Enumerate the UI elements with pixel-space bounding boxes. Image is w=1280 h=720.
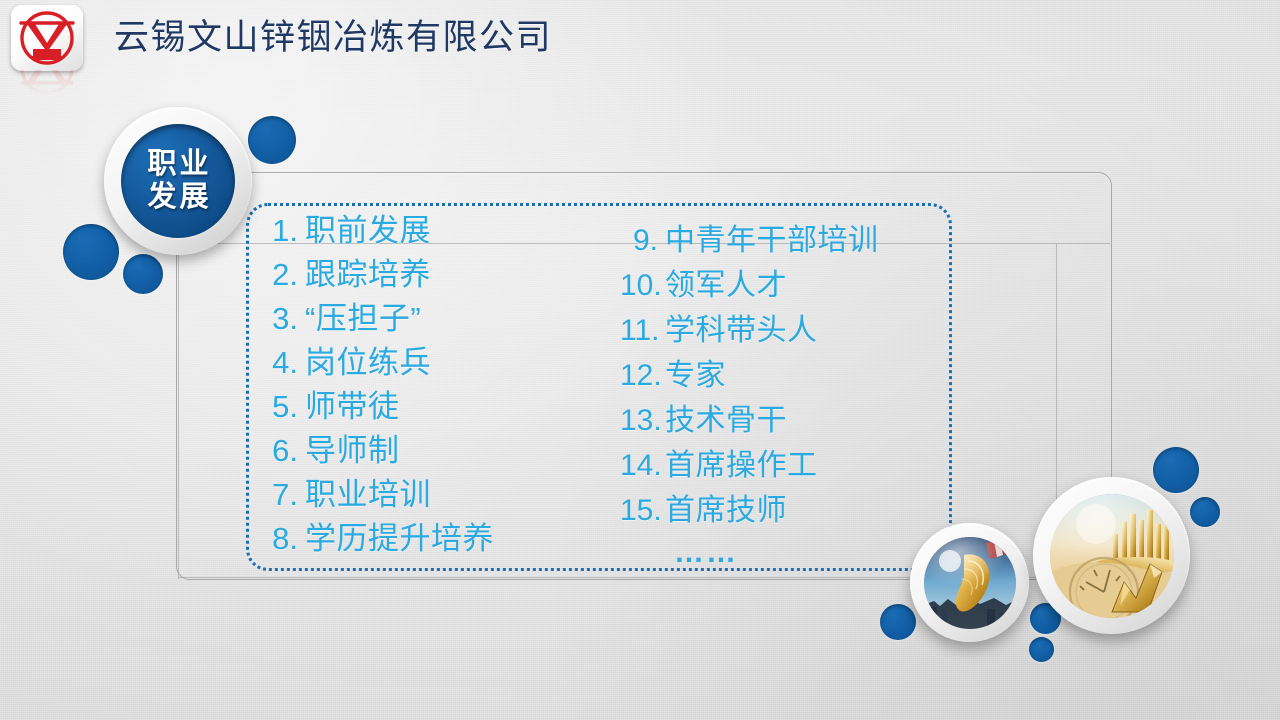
decorative-dot	[123, 254, 163, 294]
trophy-skyline-icon	[924, 537, 1016, 629]
slide-header: 云锡文山锌铟冶炼有限公司	[0, 0, 1280, 78]
list-item-number: 6.	[272, 429, 298, 473]
list-item-number: 13.	[620, 398, 658, 443]
list-item-number: 14.	[620, 443, 658, 488]
list-item-label: 导师制	[305, 429, 400, 473]
list-item-number: 9.	[620, 218, 658, 263]
list-item[interactable]: 10. 领军人才	[620, 263, 946, 308]
list-ellipsis: ……	[620, 535, 946, 571]
company-logo	[11, 5, 83, 71]
list-item[interactable]: 5. 师带徒	[272, 385, 576, 429]
list-item[interactable]: 7. 职业培训	[272, 473, 576, 517]
badge-label-line1: 职业	[144, 148, 211, 181]
list-item[interactable]: 12. 专家	[620, 353, 946, 398]
list-item-label: 中青年干部培训	[665, 218, 879, 263]
career-development-badge[interactable]: 职业 发展	[104, 107, 252, 255]
decorative-dot	[1029, 637, 1054, 662]
list-item-label: 跟踪培养	[305, 253, 431, 297]
list-item[interactable]: 14. 首席操作工	[620, 443, 946, 488]
logo-reflection	[16, 70, 78, 96]
list-item-number: 5.	[272, 385, 298, 429]
golden-arrows-clock-photo-circle[interactable]	[1033, 477, 1190, 634]
trophy-skyline-photo	[924, 537, 1016, 629]
list-item-label: “压担子”	[305, 297, 421, 341]
decorative-dot	[248, 116, 296, 164]
decorative-dot	[1190, 497, 1220, 527]
list-item-label: 师带徒	[305, 385, 400, 429]
list-item[interactable]: 2. 跟踪培养	[272, 253, 576, 297]
guide-line-anchor	[178, 578, 179, 579]
list-item-number: 10.	[620, 263, 658, 308]
list-item-number: 4.	[272, 341, 298, 385]
list-item-label: 首席技师	[665, 488, 787, 533]
golden-arrows-clock-icon	[1050, 494, 1174, 618]
list-item-label: 专家	[665, 353, 726, 398]
list-item-number: 12.	[620, 353, 658, 398]
list-item-number: 11.	[620, 308, 658, 353]
list-item[interactable]: 1. 职前发展	[272, 209, 576, 253]
list-item[interactable]: 6. 导师制	[272, 429, 576, 473]
list-item[interactable]: 15. 首席技师	[620, 488, 946, 533]
yunxi-logo-icon	[11, 5, 83, 71]
list-item[interactable]: 8. 学历提升培养	[272, 517, 576, 561]
yunxi-logo-reflection-icon	[16, 70, 78, 96]
list-item-label: 岗位练兵	[305, 341, 431, 385]
list-item-number: 15.	[620, 488, 658, 533]
list-item-label: 首席操作工	[665, 443, 818, 488]
slide-root: 云锡文山锌铟冶炼有限公司 1. 职前发展 2. 跟踪培养 3. “压担子” 4.…	[0, 0, 1280, 720]
company-title: 云锡文山锌铟冶炼有限公司	[114, 9, 552, 60]
trophy-skyline-photo-circle[interactable]	[910, 523, 1029, 642]
list-item-number: 8.	[272, 517, 298, 561]
list-item-number: 7.	[272, 473, 298, 517]
list-item-number: 3.	[272, 297, 298, 341]
badge-label-line2: 发展	[144, 181, 211, 214]
list-column-right: 9. 中青年干部培训 10. 领军人才 11. 学科带头人 12. 专家 13.…	[576, 203, 946, 565]
list-item[interactable]: 13. 技术骨干	[620, 398, 946, 443]
list-item[interactable]: 11. 学科带头人	[620, 308, 946, 353]
golden-arrows-clock-photo	[1050, 494, 1174, 618]
career-development-list: 1. 职前发展 2. 跟踪培养 3. “压担子” 4. 岗位练兵 5. 师带徒 …	[246, 203, 946, 565]
list-item-number: 1.	[272, 209, 298, 253]
decorative-dot	[1153, 447, 1199, 493]
decorative-dot	[880, 604, 916, 640]
badge-inner-circle: 职业 发展	[121, 124, 235, 238]
list-item-number: 2.	[272, 253, 298, 297]
list-item[interactable]: 3. “压担子”	[272, 297, 576, 341]
list-column-left: 1. 职前发展 2. 跟踪培养 3. “压担子” 4. 岗位练兵 5. 师带徒 …	[246, 203, 576, 565]
list-item-label: 职前发展	[305, 209, 431, 253]
list-item-label: 技术骨干	[665, 398, 787, 443]
list-item-label: 职业培训	[305, 473, 431, 517]
decorative-dot	[63, 224, 119, 280]
list-item-label: 学科带头人	[665, 308, 818, 353]
list-item[interactable]: 9. 中青年干部培训	[620, 218, 946, 263]
list-item-label: 学历提升培养	[305, 517, 494, 561]
list-item[interactable]: 4. 岗位练兵	[272, 341, 576, 385]
list-item-label: 领军人才	[665, 263, 787, 308]
